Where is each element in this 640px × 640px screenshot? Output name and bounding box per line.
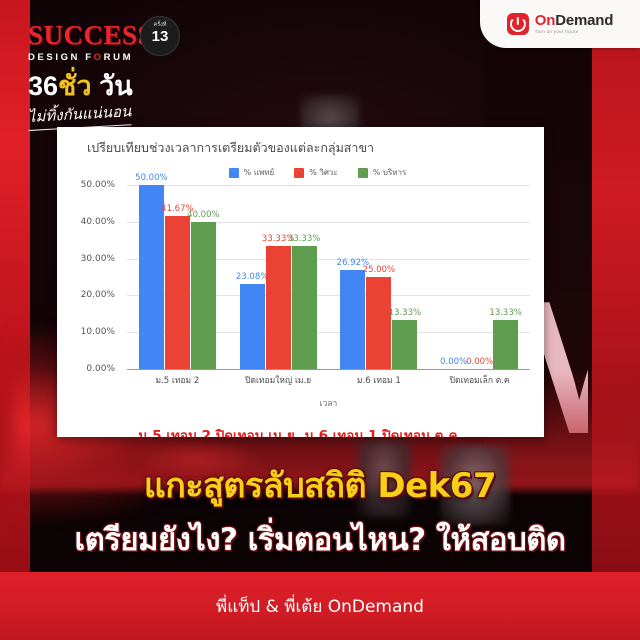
bar-slot: 0.00% xyxy=(467,185,492,369)
bar-slot: 25.00% xyxy=(366,185,391,369)
bar[interactable] xyxy=(139,185,164,369)
promo-subheadline: เตรียมยังไง? เริ่มตอนไหน? ให้สอบติด xyxy=(0,514,640,564)
y-axis-tick-label: 40.00% xyxy=(81,217,115,227)
days-headline: 36ชั่ว วัน xyxy=(28,73,328,100)
legend-label: % แพทย์ xyxy=(244,166,275,179)
x-axis-category-label: ม.6 เทอม 1 xyxy=(329,373,430,387)
bar-slot: 13.33% xyxy=(392,185,417,369)
ondemand-name-on: On xyxy=(535,12,555,29)
chart-plot-area: 50.00%40.00%30.00%20.00%10.00%0.00% 50.0… xyxy=(69,185,530,369)
plot-region: 50.00%41.67%40.00%23.08%33.33%33.33%26.9… xyxy=(127,185,530,369)
legend-item[interactable]: % แพทย์ xyxy=(229,166,275,179)
bar[interactable] xyxy=(292,246,317,369)
design-forum-left: DESIGN F xyxy=(28,52,94,63)
x-axis-title: เวลา xyxy=(113,396,544,410)
bar[interactable] xyxy=(191,222,216,369)
promo-headline: แกะสูตรลับสถิติ Dek67 xyxy=(0,458,640,512)
days-highlight: ชั่ว xyxy=(58,71,92,101)
y-axis-tick-label: 30.00% xyxy=(81,254,115,264)
bar-group: 50.00%41.67%40.00% xyxy=(127,185,228,369)
bar-value-label: 13.33% xyxy=(489,308,521,318)
bar-slot: 41.67% xyxy=(165,185,190,369)
x-axis-category-label: ปิดเทอมเล็ก ต.ค xyxy=(429,373,530,387)
x-axis-category-label: ม.5 เทอม 2 xyxy=(127,373,228,387)
bar-slot: 33.33% xyxy=(292,185,317,369)
bar[interactable] xyxy=(366,277,391,369)
bar-value-label: 33.33% xyxy=(288,234,320,244)
days-suffix: วัน xyxy=(99,71,133,101)
legend-swatch-icon xyxy=(229,168,239,178)
success-logo-text: SUCCESS xyxy=(28,20,153,50)
bar-slot: 33.33% xyxy=(266,185,291,369)
bar-slot: 26.92% xyxy=(340,185,365,369)
footer-credit: พี่แท็ป & พี่เต้ย OnDemand xyxy=(216,593,424,620)
event-branding: SUCCESS DESIGN FORUM ครั้งที่ 13 36ชั่ว … xyxy=(28,22,328,131)
bar-slot: 40.00% xyxy=(191,185,216,369)
x-axis-labels: ม.5 เทอม 2ปิดเทอมใหญ่ เม.ยม.6 เทอม 1ปิดเ… xyxy=(127,373,530,387)
bar-value-label: 0.00% xyxy=(440,357,467,367)
ondemand-wordmark: OnDemand Turn on your future xyxy=(535,13,613,34)
footer-band: พี่แท็ป & พี่เต้ย OnDemand xyxy=(0,572,640,640)
edition-badge: ครั้งที่ 13 xyxy=(140,16,180,56)
design-forum-o: O xyxy=(94,52,104,63)
bar[interactable] xyxy=(493,320,518,369)
chart-card: เปรียบเทียบช่วงเวลาการเตรียมตัวของแต่ละก… xyxy=(57,127,544,437)
y-axis-tick-label: 20.00% xyxy=(81,290,115,300)
power-icon xyxy=(507,13,529,35)
y-axis-tick-label: 50.00% xyxy=(81,180,115,190)
bar-slot: 23.08% xyxy=(240,185,265,369)
design-forum-right: RUM xyxy=(104,52,133,63)
bar-value-label: 40.00% xyxy=(187,210,219,220)
bar-slot: 50.00% xyxy=(139,185,164,369)
edition-badge-number: 13 xyxy=(141,29,179,45)
bar-groups: 50.00%41.67%40.00%23.08%33.33%33.33%26.9… xyxy=(127,185,530,369)
y-axis-tick-label: 10.00% xyxy=(81,327,115,337)
bar-value-label: 13.33% xyxy=(389,308,421,318)
bar[interactable] xyxy=(266,246,291,369)
legend-label: % บริหาร xyxy=(373,166,407,179)
ondemand-tagline: Turn on your future xyxy=(535,30,613,34)
axis-baseline xyxy=(127,369,530,370)
chart-title: เปรียบเทียบช่วงเวลาการเตรียมตัวของแต่ละก… xyxy=(57,127,544,158)
y-axis: 50.00%40.00%30.00%20.00%10.00%0.00% xyxy=(69,185,121,369)
bar-group: 23.08%33.33%33.33% xyxy=(228,185,329,369)
legend-item[interactable]: % วิศวะ xyxy=(294,166,338,179)
bar-slot: 13.33% xyxy=(493,185,518,369)
y-axis-tick-label: 0.00% xyxy=(86,364,115,374)
design-forum-subtitle: DESIGN FORUM xyxy=(28,52,328,63)
bar-value-label: 0.00% xyxy=(466,357,493,367)
legend-item[interactable]: % บริหาร xyxy=(358,166,407,179)
bar-value-label: 25.00% xyxy=(363,265,395,275)
bar[interactable] xyxy=(392,320,417,369)
bar-group: 26.92%25.00%13.33% xyxy=(329,185,430,369)
legend-label: % วิศวะ xyxy=(309,166,338,179)
x-axis-category-label: ปิดเทอมใหญ่ เม.ย xyxy=(228,373,329,387)
legend-swatch-icon xyxy=(358,168,368,178)
days-prefix: 36 xyxy=(28,71,58,101)
bar[interactable] xyxy=(340,270,365,369)
bar-value-label: 50.00% xyxy=(135,173,167,183)
bar-slot: 0.00% xyxy=(441,185,466,369)
bar[interactable] xyxy=(240,284,265,369)
bar-group: 0.00%0.00%13.33% xyxy=(429,185,530,369)
bar[interactable] xyxy=(165,216,190,369)
ondemand-logo: OnDemand Turn on your future xyxy=(480,0,640,48)
promo-slide: M OnDemand Turn on your future SUCCESS D… xyxy=(0,0,640,640)
ondemand-name-demand: Demand xyxy=(555,12,613,29)
bar-value-label: 23.08% xyxy=(236,272,268,282)
chart-caption: ม.5 เทอม 2 ปิดเทอม เม.ย. ม.6 เทอม 1 ปิดเ… xyxy=(57,424,544,437)
legend-swatch-icon xyxy=(294,168,304,178)
